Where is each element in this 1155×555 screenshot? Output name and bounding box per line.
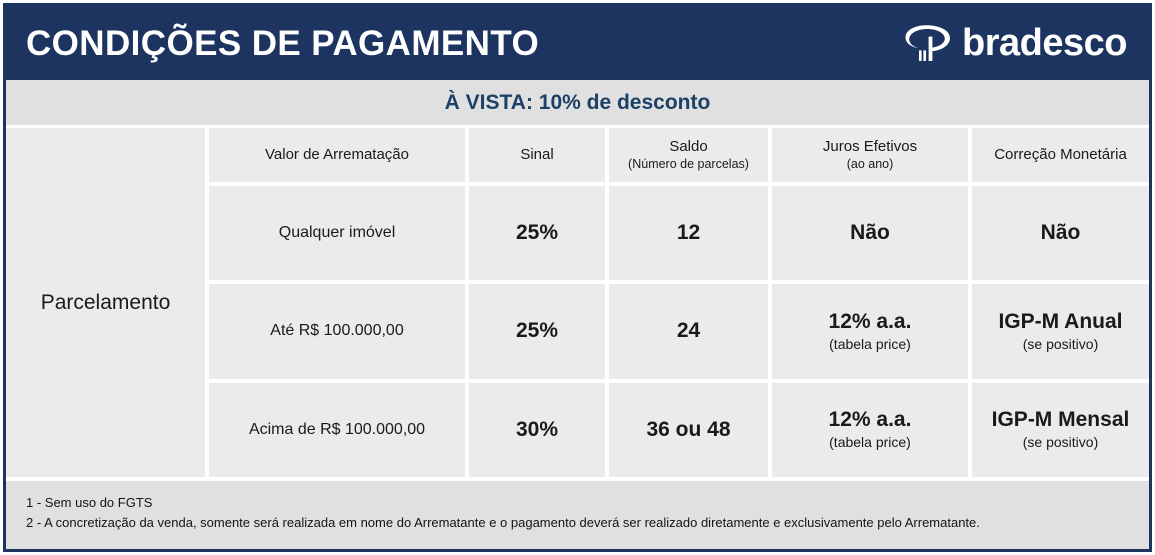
cell-sinal-text: 30% [516, 418, 558, 442]
cell-valor-text: Qualquer imóvel [279, 224, 396, 242]
cell-correcao-text: IGP-M Anual [998, 310, 1122, 334]
cell-valor: Até R$ 100.000,00 [209, 284, 465, 378]
cell-sinal: 25% [465, 186, 605, 280]
column-header-saldo: Saldo (Número de parcelas) [605, 128, 768, 182]
cell-correcao: IGP-M Anual (se positivo) [968, 284, 1149, 378]
cell-correcao: Não [968, 186, 1149, 280]
table-row: Acima de R$ 100.000,00 30% 36 ou 48 12% … [209, 379, 1149, 477]
payment-conditions-card: CONDIÇÕES DE PAGAMENTO bradesco [0, 0, 1155, 555]
cell-juros-text: 12% a.a. [829, 408, 912, 432]
cell-saldo: 24 [605, 284, 768, 378]
cell-juros-text: Não [850, 221, 890, 245]
page-title: CONDIÇÕES DE PAGAMENTO [26, 26, 539, 61]
cell-valor: Qualquer imóvel [209, 186, 465, 280]
footnote-2: 2 - A concretização da venda, somente se… [26, 513, 1149, 533]
cell-correcao-text: Não [1041, 221, 1081, 245]
column-header-sinal: Sinal [465, 128, 605, 182]
discount-text: À VISTA: 10% de desconto [445, 92, 711, 113]
cell-valor-text: Acima de R$ 100.000,00 [249, 421, 425, 439]
cell-juros: 12% a.a. (tabela price) [768, 383, 968, 477]
table-grid: Valor de Arrematação Sinal Saldo (Número… [209, 128, 1149, 477]
card-frame: CONDIÇÕES DE PAGAMENTO bradesco [3, 3, 1152, 552]
cell-juros: Não [768, 186, 968, 280]
cell-valor: Acima de R$ 100.000,00 [209, 383, 465, 477]
column-header-sinal-title: Sinal [520, 146, 553, 163]
column-header-valor-title: Valor de Arrematação [265, 146, 409, 163]
cell-juros-text: 12% a.a. [829, 310, 912, 334]
table-row: Qualquer imóvel 25% 12 Não Não [209, 182, 1149, 280]
cell-saldo-text: 24 [677, 319, 700, 343]
cell-sinal-text: 25% [516, 319, 558, 343]
brand-name: bradesco [962, 24, 1127, 62]
cell-juros: 12% a.a. (tabela price) [768, 284, 968, 378]
footnote-1: 1 - Sem uso do FGTS [26, 493, 1149, 513]
cell-juros-sub: (tabela price) [829, 434, 911, 451]
column-header-correcao-title: Correção Monetária [994, 146, 1127, 163]
column-header-juros: Juros Efetivos (ao ano) [768, 128, 968, 182]
cell-valor-text: Até R$ 100.000,00 [270, 322, 403, 340]
cell-saldo-text: 12 [677, 221, 700, 245]
cell-juros-sub: (tabela price) [829, 336, 911, 353]
column-header-juros-title: Juros Efetivos [823, 138, 917, 155]
cell-sinal: 30% [465, 383, 605, 477]
cell-saldo: 12 [605, 186, 768, 280]
cell-sinal: 25% [465, 284, 605, 378]
cell-sinal-text: 25% [516, 221, 558, 245]
column-header-saldo-sub: (Número de parcelas) [628, 157, 749, 172]
column-header-saldo-title: Saldo [669, 138, 707, 155]
bradesco-tree-icon [902, 20, 954, 66]
column-header-valor: Valor de Arrematação [209, 128, 465, 182]
cell-correcao-sub: (se positivo) [1023, 434, 1098, 451]
cell-correcao-sub: (se positivo) [1023, 336, 1098, 353]
table-row: Até R$ 100.000,00 25% 24 12% a.a. (tabel… [209, 280, 1149, 378]
cell-saldo: 36 ou 48 [605, 383, 768, 477]
cell-saldo-text: 36 ou 48 [646, 418, 730, 442]
column-header-correcao: Correção Monetária [968, 128, 1149, 182]
cell-correcao: IGP-M Mensal (se positivo) [968, 383, 1149, 477]
column-header-juros-sub: (ao ano) [847, 157, 894, 172]
discount-banner: À VISTA: 10% de desconto [6, 80, 1149, 128]
footnotes: 1 - Sem uso do FGTS 2 - A concretização … [6, 477, 1149, 549]
brand-lockup: bradesco [902, 20, 1127, 66]
row-group-label: Parcelamento [6, 128, 209, 477]
table-header-row: Valor de Arrematação Sinal Saldo (Número… [209, 128, 1149, 182]
row-group-label-text: Parcelamento [41, 292, 171, 313]
conditions-table: Parcelamento Valor de Arrematação Sinal … [6, 128, 1149, 477]
card-header: CONDIÇÕES DE PAGAMENTO bradesco [6, 6, 1149, 80]
cell-correcao-text: IGP-M Mensal [992, 408, 1130, 432]
